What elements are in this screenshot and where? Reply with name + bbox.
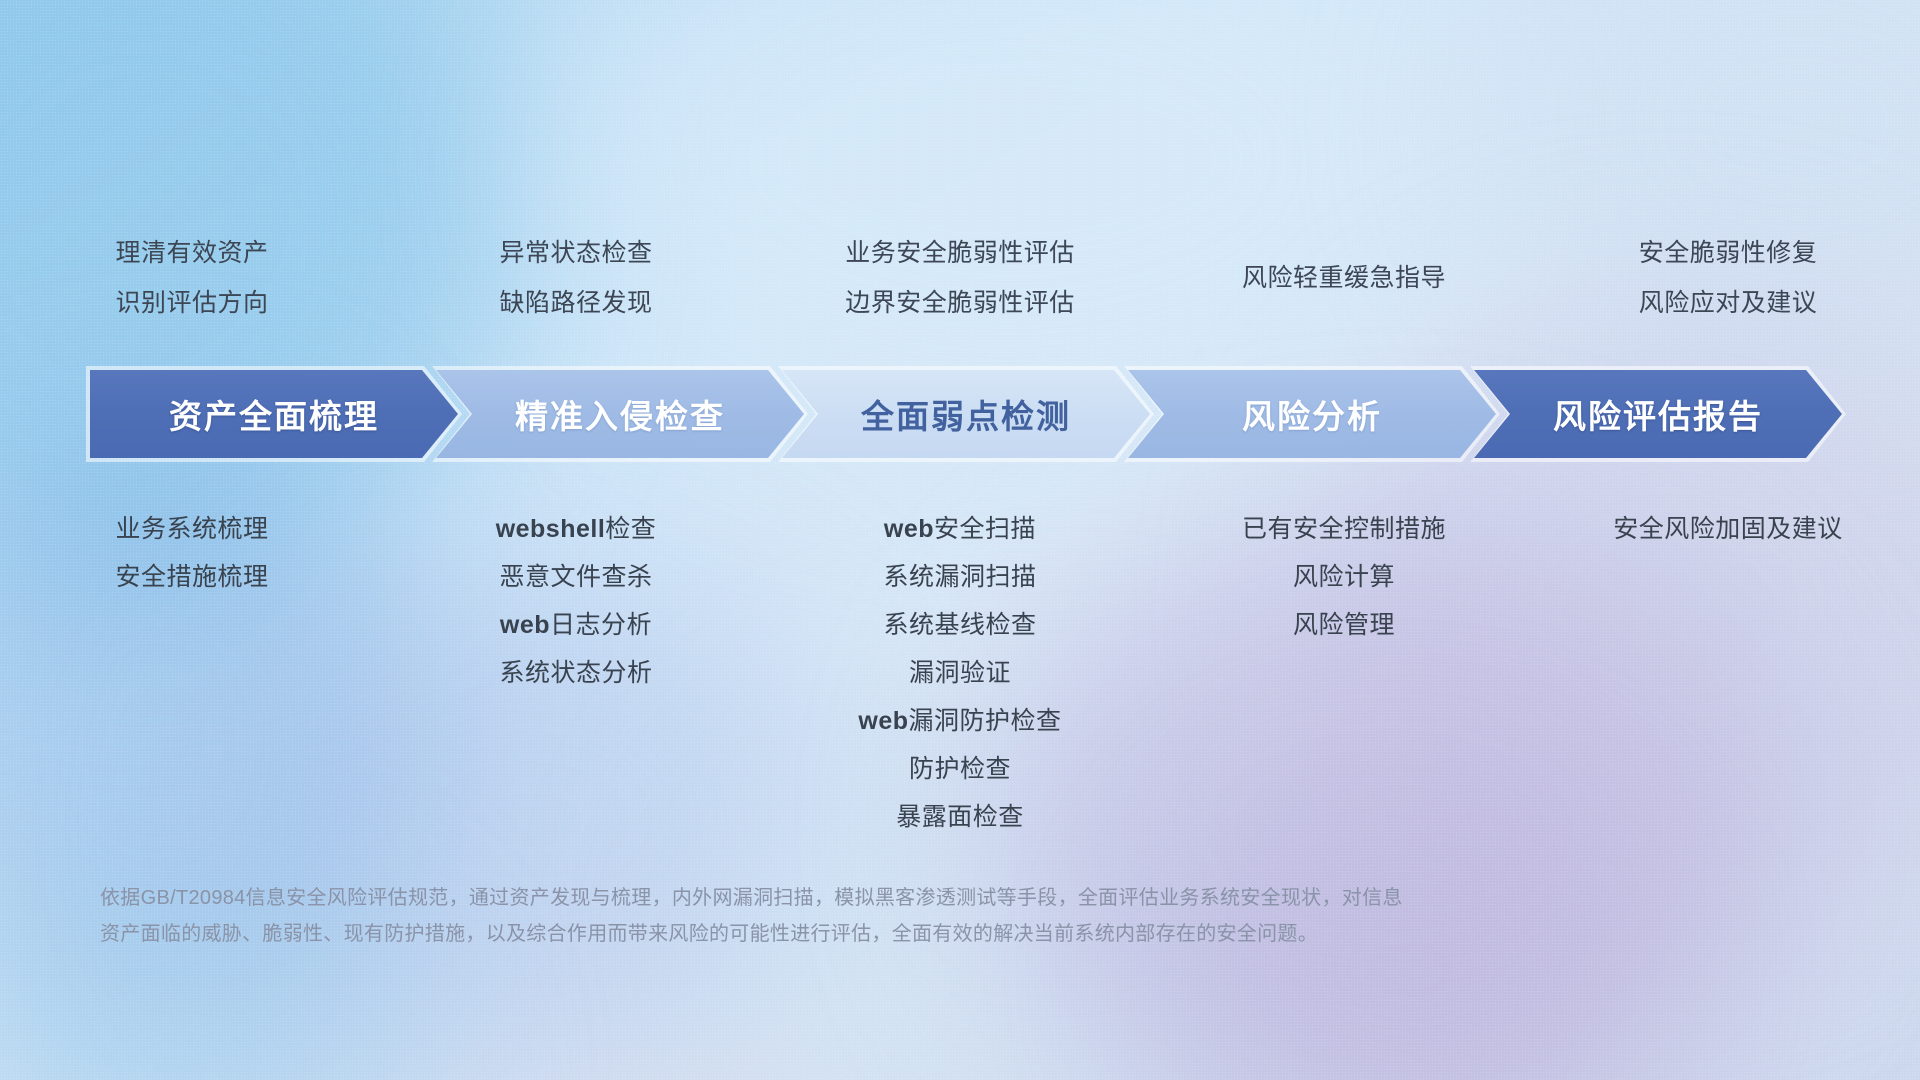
- bottom-detail-column: webshell检查 恶意文件查杀 web日志分析 系统状态分析: [384, 505, 768, 841]
- top-descriptor-item: 异常状态检查: [499, 228, 652, 278]
- bottom-detail-item: web日志分析: [500, 601, 652, 649]
- bottom-detail-item: 系统漏洞扫描: [883, 553, 1036, 601]
- bottom-detail-item: 暴露面检查: [896, 793, 1024, 841]
- bottom-detail-item: 风险管理: [1293, 601, 1395, 649]
- footer-line: 依据GB/T20984信息安全风险评估规范，通过资产发现与梳理，内外网漏洞扫描，…: [100, 880, 1630, 916]
- stage-arrow-intrusion-check[interactable]: 精准入侵检查: [432, 366, 808, 462]
- bottom-detail-item: 风险计算: [1293, 553, 1395, 601]
- top-descriptor-column: 安全脆弱性修复 风险应对及建议: [1536, 228, 1920, 328]
- stage-arrow-weakness-detection[interactable]: 全面弱点检测: [778, 366, 1154, 462]
- bottom-detail-item: 恶意文件查杀: [499, 553, 652, 601]
- bottom-detail-item: 防护检查: [909, 745, 1011, 793]
- latin-prefix: web: [858, 707, 908, 735]
- top-descriptor-item: 理清有效资产: [115, 228, 268, 278]
- footer-line: 资产面临的威胁、脆弱性、现有防护措施，以及综合作用而带来风险的可能性进行评估，全…: [100, 916, 1630, 952]
- latin-prefix: web: [500, 611, 550, 639]
- top-descriptor-column: 理清有效资产 识别评估方向: [0, 228, 384, 328]
- bottom-detail-item: 安全风险加固及建议: [1613, 505, 1843, 553]
- diagram-content: 理清有效资产 识别评估方向 异常状态检查 缺陷路径发现 业务安全脆弱性评估 边界…: [0, 0, 1920, 1080]
- bottom-detail-item: web安全扫描: [884, 505, 1036, 553]
- bottom-detail-row: 业务系统梳理 安全措施梳理 webshell检查 恶意文件查杀 web日志分析 …: [0, 505, 1920, 841]
- latin-prefix: web: [884, 515, 934, 543]
- bottom-detail-column: web安全扫描 系统漏洞扫描 系统基线检查 漏洞验证 web漏洞防护检查 防护检…: [768, 505, 1152, 841]
- bottom-detail-column: 已有安全控制措施 风险计算 风险管理: [1152, 505, 1536, 841]
- bottom-detail-item: 漏洞验证: [909, 649, 1011, 697]
- top-descriptor-row: 理清有效资产 识别评估方向 异常状态检查 缺陷路径发现 业务安全脆弱性评估 边界…: [0, 228, 1920, 328]
- top-descriptor-item: 业务安全脆弱性评估: [845, 228, 1075, 278]
- stage-arrow-label: 精准入侵检查: [515, 390, 725, 438]
- top-descriptor-item: 缺陷路径发现: [499, 278, 652, 328]
- latin-prefix: webshell: [496, 515, 606, 543]
- top-descriptor-item: 风险轻重缓急指导: [1242, 253, 1446, 303]
- stage-arrow-label: 资产全面梳理: [169, 390, 379, 438]
- bottom-detail-item: web漏洞防护检查: [858, 697, 1061, 745]
- top-descriptor-item: 识别评估方向: [115, 278, 268, 328]
- bottom-detail-column: 安全风险加固及建议: [1536, 505, 1920, 841]
- bottom-detail-item: webshell检查: [496, 505, 657, 553]
- top-descriptor-item: 风险应对及建议: [1639, 278, 1818, 328]
- stage-arrow-label: 全面弱点检测: [861, 390, 1071, 438]
- slide-canvas: 理清有效资产 识别评估方向 异常状态检查 缺陷路径发现 业务安全脆弱性评估 边界…: [0, 0, 1920, 1080]
- stage-arrow-label: 风险评估报告: [1553, 390, 1763, 438]
- stage-arrow-risk-analysis[interactable]: 风险分析: [1124, 366, 1500, 462]
- process-arrow-banner: 资产全面梳理 精准入侵检查 全面弱点检测 风险分析 风险评估报告: [86, 366, 1846, 462]
- top-descriptor-column: 风险轻重缓急指导: [1152, 228, 1536, 328]
- stage-arrow-risk-report[interactable]: 风险评估报告: [1470, 366, 1846, 462]
- bottom-detail-item: 系统基线检查: [883, 601, 1036, 649]
- top-descriptor-column: 异常状态检查 缺陷路径发现: [384, 228, 768, 328]
- top-descriptor-item: 安全脆弱性修复: [1639, 228, 1818, 278]
- top-descriptor-item: 边界安全脆弱性评估: [845, 278, 1075, 328]
- footer-description: 依据GB/T20984信息安全风险评估规范，通过资产发现与梳理，内外网漏洞扫描，…: [100, 880, 1630, 952]
- bottom-detail-item: 已有安全控制措施: [1242, 505, 1446, 553]
- bottom-detail-item: 安全措施梳理: [115, 553, 268, 601]
- bottom-detail-item: 业务系统梳理: [115, 505, 268, 553]
- bottom-detail-item: 系统状态分析: [499, 649, 652, 697]
- stage-arrow-asset-inventory[interactable]: 资产全面梳理: [86, 366, 462, 462]
- bottom-detail-column: 业务系统梳理 安全措施梳理: [0, 505, 384, 841]
- top-descriptor-column: 业务安全脆弱性评估 边界安全脆弱性评估: [768, 228, 1152, 328]
- stage-arrow-label: 风险分析: [1242, 390, 1382, 438]
